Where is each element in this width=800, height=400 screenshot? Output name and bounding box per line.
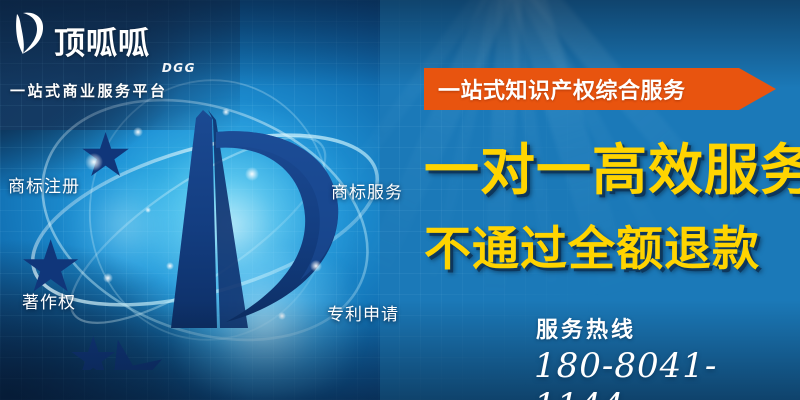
brand-tagline: 一站式商业服务平台: [10, 80, 200, 101]
service-label-trademark-registration[interactable]: 商标注册: [8, 172, 80, 197]
brand-name: 顶呱呱: [54, 29, 150, 60]
hotline-label: 服务热线: [536, 312, 636, 344]
hotline-number[interactable]: 180-8041-1144: [534, 346, 800, 400]
ribbon-text: 一站式知识产权综合服务: [438, 68, 686, 110]
service-label-patent-application[interactable]: 专利申请: [327, 300, 399, 325]
brand-abbreviation: DGG: [10, 61, 196, 75]
ribbon-banner: 一站式知识产权综合服务: [424, 68, 776, 110]
headline-primary: 一对一高效服务: [424, 143, 800, 198]
emblem-p-shape: [171, 110, 338, 328]
patent-p-emblem: [20, 70, 410, 370]
emblem-svg: [20, 70, 410, 370]
service-label-trademark-service[interactable]: 商标服务: [331, 178, 403, 203]
brand-logo[interactable]: 顶呱呱 DGG 一站式商业服务平台: [10, 8, 200, 101]
headline-secondary: 不通过全额退款: [424, 226, 760, 273]
service-label-copyright[interactable]: 著作权: [22, 288, 76, 313]
dgg-leaf-mark-icon: [10, 8, 50, 60]
promotional-banner: 顶呱呱 DGG 一站式商业服务平台 商标注册 著作权 商标服务 专利申请 一站式…: [0, 0, 800, 400]
